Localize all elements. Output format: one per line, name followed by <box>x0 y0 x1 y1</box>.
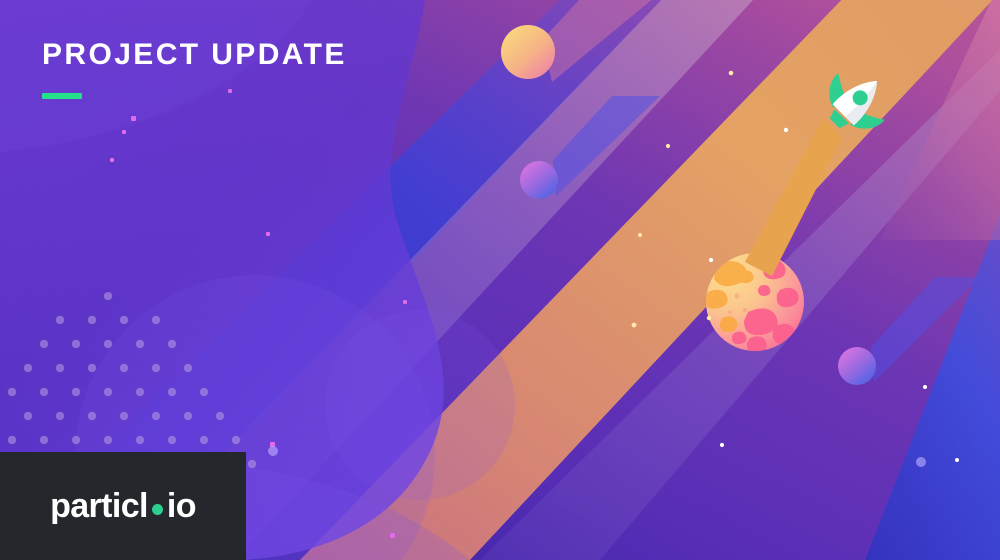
planet-violet-small-top <box>520 161 558 199</box>
planet-violet-small-bottom <box>838 347 876 385</box>
logo-text-after-dot: io <box>167 487 196 526</box>
logo-wordmark: particl io <box>50 487 196 526</box>
logo-plate[interactable]: particl io <box>0 452 246 560</box>
page-title: PROJECT UPDATE <box>42 38 347 71</box>
banner-canvas: PROJECT UPDATE particl io <box>0 0 1000 560</box>
planet-yellow-pink <box>501 25 555 79</box>
title-accent-rule <box>42 93 82 99</box>
headline-block: PROJECT UPDATE <box>42 38 347 99</box>
left-blob-circle-glow-2 <box>325 310 515 500</box>
green-dot-separator-icon <box>152 504 163 515</box>
logo-text-before-dot: particl <box>50 487 148 526</box>
